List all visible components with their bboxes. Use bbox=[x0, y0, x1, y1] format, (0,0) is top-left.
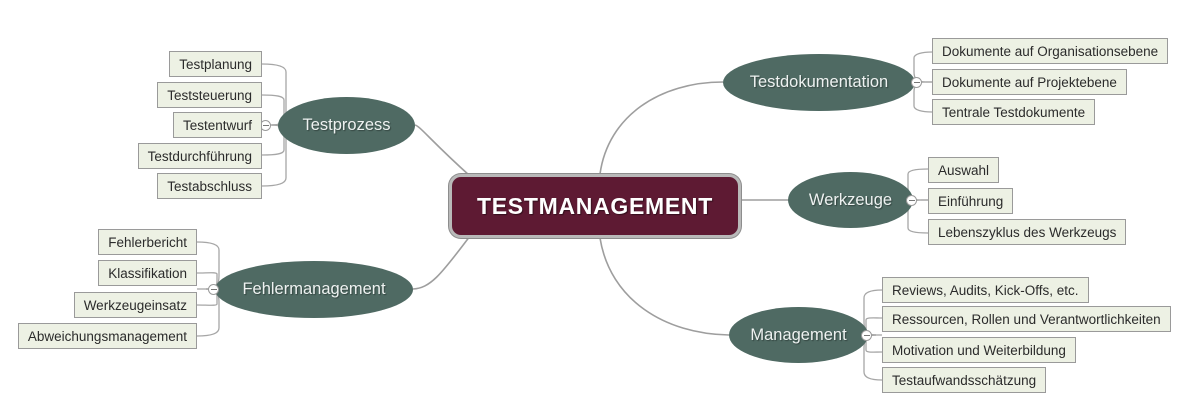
leaf-node-label: Motivation und Weiterbildung bbox=[892, 343, 1066, 358]
branch-node-label-management: Management bbox=[750, 326, 846, 345]
leaf-node-label: Reviews, Audits, Kick-Offs, etc. bbox=[892, 283, 1079, 298]
leaf-node-label: Testaufwandsschätzung bbox=[892, 373, 1036, 388]
leaf-node-abweichungsmanagement[interactable]: Abweichungsmanagement bbox=[18, 323, 197, 349]
leaf-node-tentrale-testdokumente[interactable]: Tentrale Testdokumente bbox=[932, 99, 1095, 125]
root-node-testmanagement[interactable]: TESTMANAGEMENT bbox=[449, 174, 741, 238]
leaf-node-label: Lebenszyklus des Werkzeugs bbox=[938, 225, 1116, 240]
root-node-label: TESTMANAGEMENT bbox=[477, 193, 713, 220]
leaf-node-label: Dokumente auf Projektebene bbox=[942, 75, 1117, 90]
leaf-node-teststeuerung[interactable]: Teststeuerung bbox=[157, 82, 262, 108]
leaf-node-testabschluss[interactable]: Testabschluss bbox=[157, 173, 262, 199]
leaf-node-label: Dokumente auf Organisationsebene bbox=[942, 44, 1158, 59]
leaf-node-klassifikation[interactable]: Klassifikation bbox=[98, 260, 197, 286]
leaf-node-motivation-weiterbildung[interactable]: Motivation und Weiterbildung bbox=[882, 337, 1076, 363]
branch-node-fehlermanagement[interactable]: Fehlermanagement bbox=[215, 261, 413, 318]
leaf-node-testaufwandsschaetzung[interactable]: Testaufwandsschätzung bbox=[882, 367, 1046, 393]
collapse-toggle-werkzeuge[interactable] bbox=[906, 195, 917, 206]
leaf-node-label: Einführung bbox=[938, 194, 1003, 209]
branch-node-label-testdokumentation: Testdokumentation bbox=[750, 73, 889, 92]
collapse-toggle-testdokumentation[interactable] bbox=[911, 77, 922, 88]
connector-root-management bbox=[600, 238, 729, 335]
branch-node-testdokumentation[interactable]: Testdokumentation bbox=[723, 54, 915, 111]
leaf-node-dokumente-organisationsebene[interactable]: Dokumente auf Organisationsebene bbox=[932, 38, 1168, 64]
leaf-node-einfuehrung[interactable]: Einführung bbox=[928, 188, 1013, 214]
leaf-node-label: Fehlerbericht bbox=[108, 235, 187, 250]
leaf-node-label: Tentrale Testdokumente bbox=[942, 105, 1085, 120]
leaf-node-dokumente-projektebene[interactable]: Dokumente auf Projektebene bbox=[932, 69, 1127, 95]
branch-node-label-testprozess: Testprozess bbox=[302, 116, 390, 135]
leaf-node-label: Testdurchführung bbox=[148, 149, 252, 164]
leaf-node-auswahl[interactable]: Auswahl bbox=[928, 157, 999, 183]
collapse-toggle-fehlermanagement[interactable] bbox=[208, 284, 219, 295]
leaf-node-testentwurf[interactable]: Testentwurf bbox=[173, 112, 262, 138]
collapse-toggle-management[interactable] bbox=[861, 330, 872, 341]
leaf-node-label: Klassifikation bbox=[108, 266, 187, 281]
leaf-node-lebenszyklus-werkzeugs[interactable]: Lebenszyklus des Werkzeugs bbox=[928, 219, 1126, 245]
branch-node-testprozess[interactable]: Testprozess bbox=[278, 97, 415, 154]
connector-root-testprozess bbox=[415, 125, 470, 176]
leaf-node-ressourcen-rollen-verantwortlichkeiten[interactable]: Ressourcen, Rollen und Verantwortlichkei… bbox=[882, 306, 1171, 332]
branch-node-werkzeuge[interactable]: Werkzeuge bbox=[788, 172, 913, 228]
leaf-node-label: Werkzeugeinsatz bbox=[84, 298, 187, 313]
leaf-node-label: Testentwurf bbox=[183, 118, 252, 133]
leaf-node-label: Teststeuerung bbox=[167, 88, 252, 103]
leaf-node-label: Auswahl bbox=[938, 163, 989, 178]
branch-node-label-werkzeuge: Werkzeuge bbox=[809, 191, 892, 210]
leaf-node-fehlerbericht[interactable]: Fehlerbericht bbox=[98, 229, 197, 255]
branch-node-management[interactable]: Management bbox=[729, 307, 868, 363]
mindmap-canvas: TESTMANAGEMENT Testprozess Testplanung T… bbox=[0, 0, 1197, 416]
leaf-node-testplanung[interactable]: Testplanung bbox=[169, 51, 262, 77]
leaf-node-label: Ressourcen, Rollen und Verantwortlichkei… bbox=[892, 312, 1161, 327]
leaf-node-testdurchfuehrung[interactable]: Testdurchführung bbox=[138, 143, 262, 169]
leaf-node-reviews-audits-kickoffs[interactable]: Reviews, Audits, Kick-Offs, etc. bbox=[882, 277, 1089, 303]
leaf-node-label: Testabschluss bbox=[167, 179, 252, 194]
leaf-node-label: Abweichungsmanagement bbox=[28, 329, 187, 344]
connector-root-fehlermanagement bbox=[413, 236, 470, 289]
branch-node-label-fehlermanagement: Fehlermanagement bbox=[242, 280, 385, 299]
leaf-node-label: Testplanung bbox=[179, 57, 252, 72]
connector-root-testdokumentation bbox=[600, 82, 723, 174]
leaf-node-werkzeugeinsatz[interactable]: Werkzeugeinsatz bbox=[74, 292, 197, 318]
